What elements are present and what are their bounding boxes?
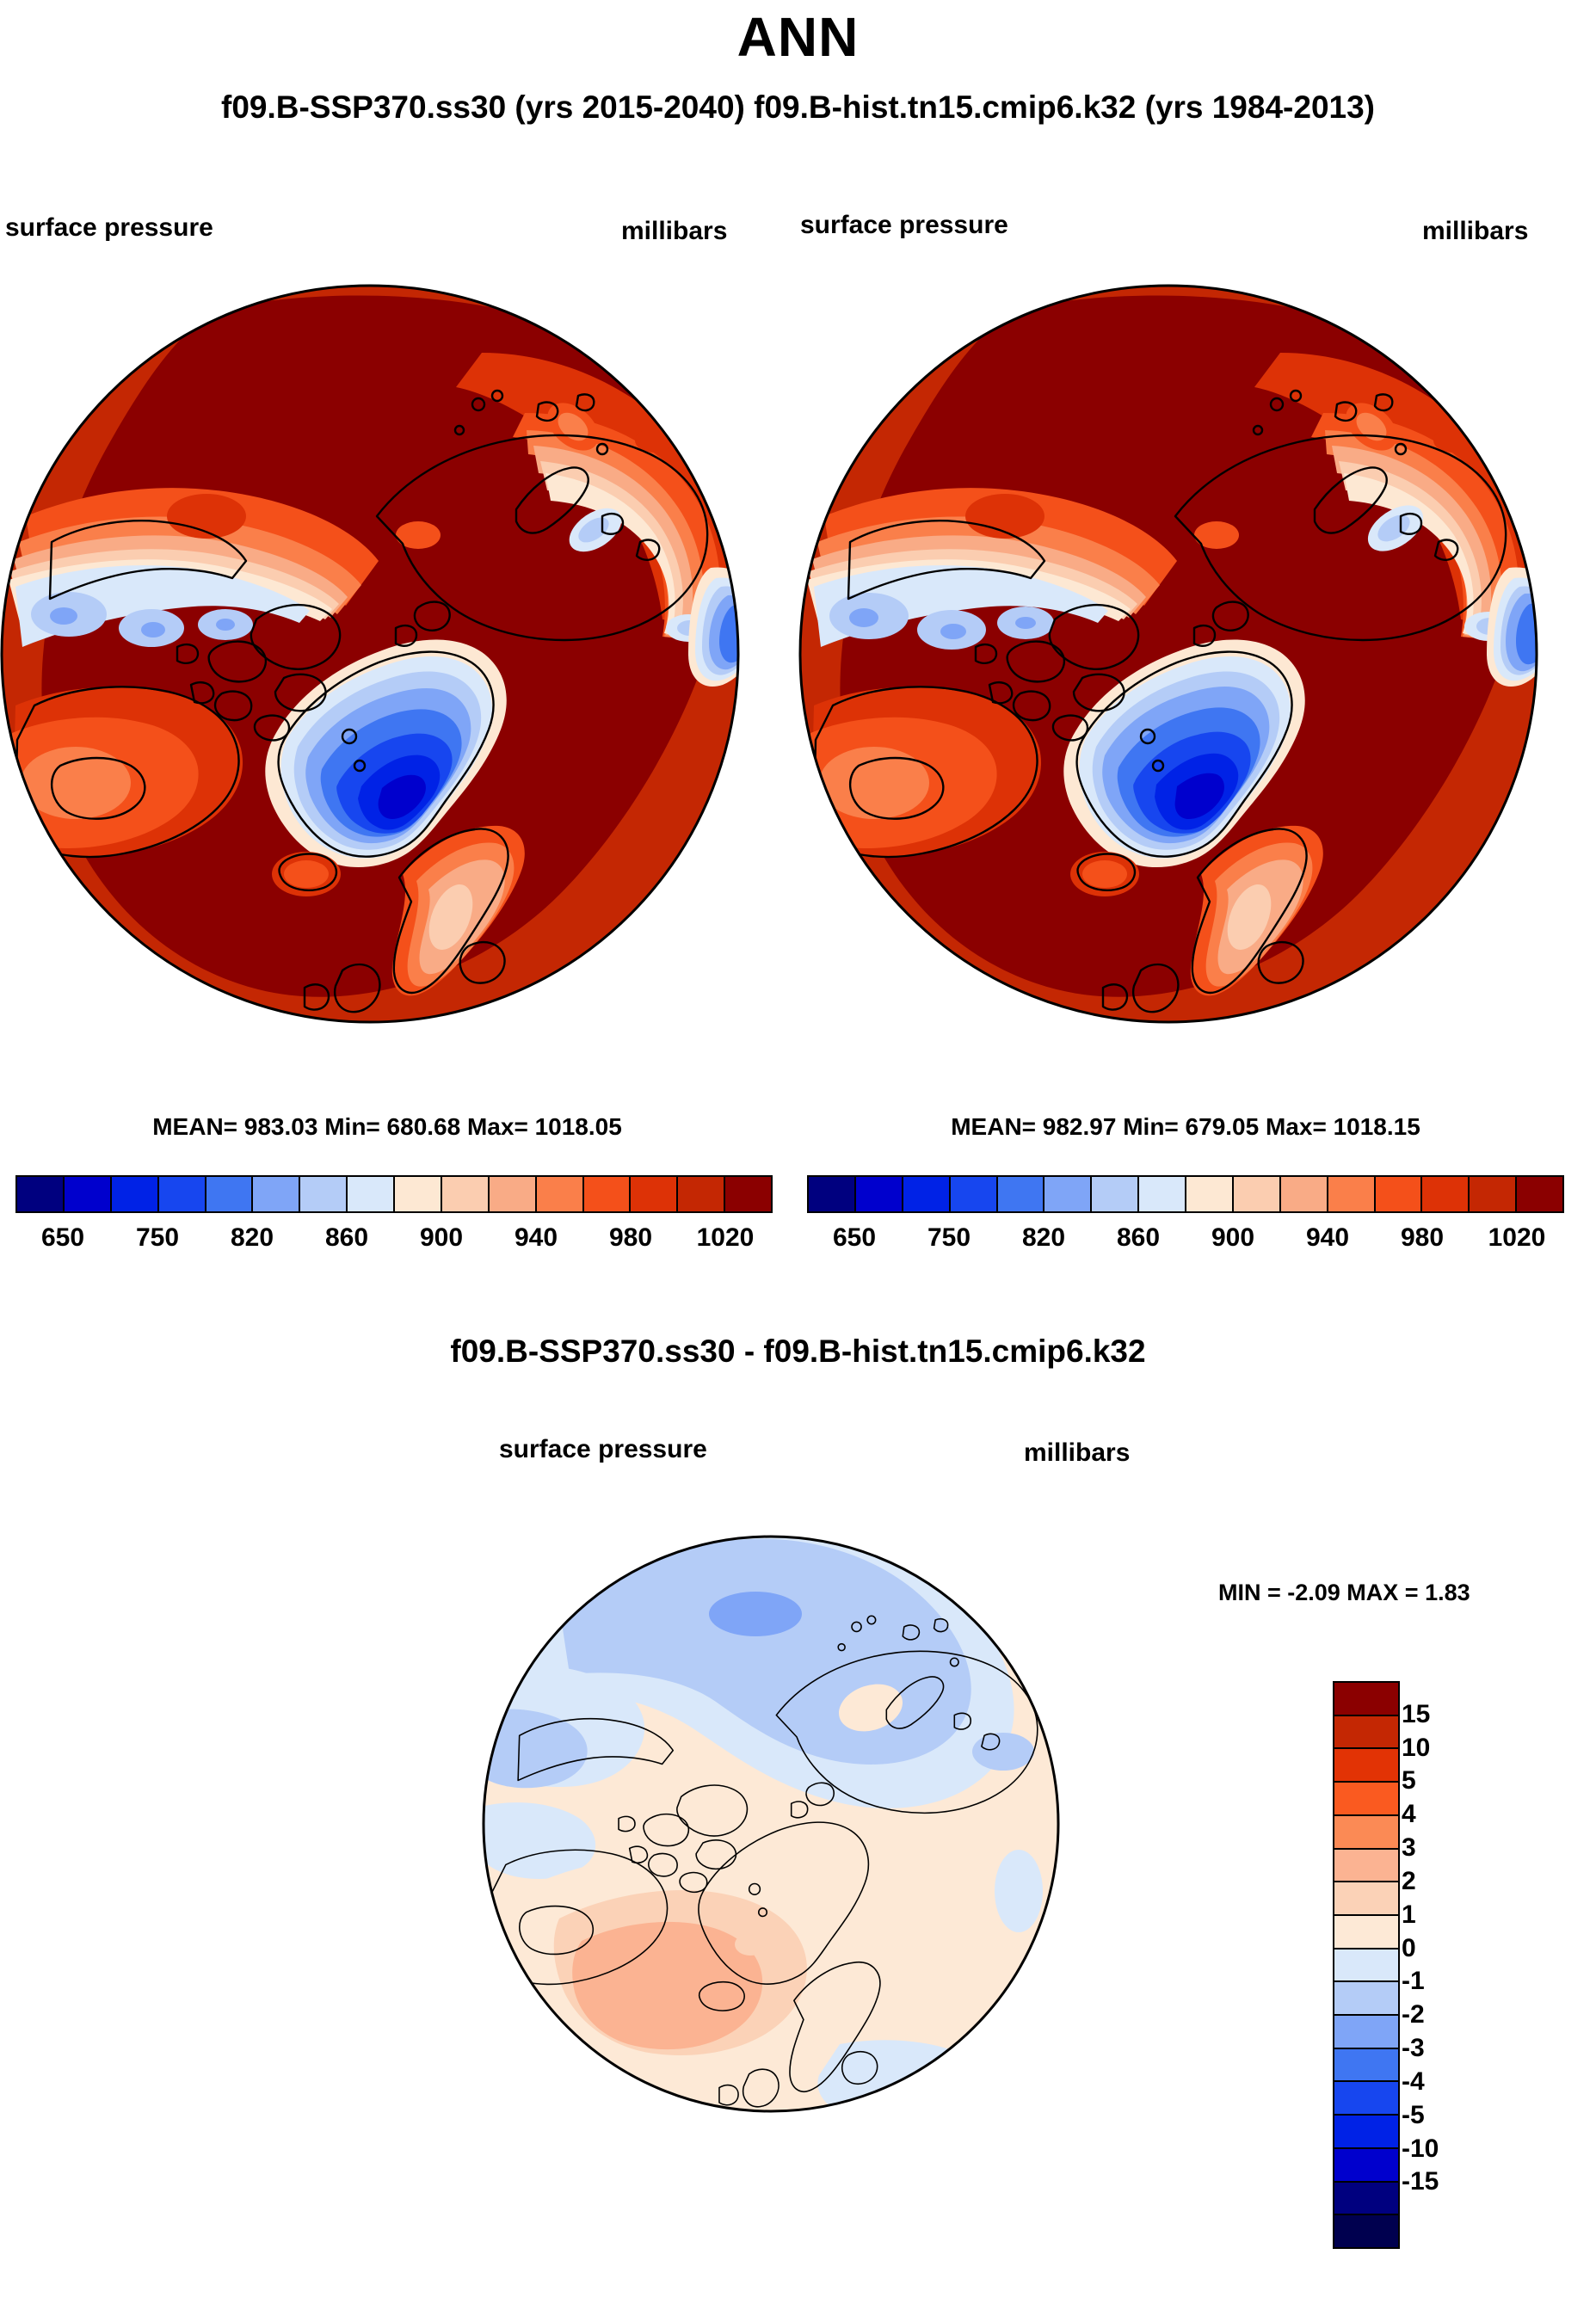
colorbar-tick-label: 15 bbox=[1402, 1700, 1430, 1729]
colorbar-swatch bbox=[110, 1177, 157, 1211]
colorbar-swatch bbox=[949, 1177, 996, 1211]
colorbar-tick-label: -1 bbox=[1402, 1967, 1425, 1996]
diff-variable-label: surface pressure bbox=[499, 1435, 707, 1464]
colorbar-swatch bbox=[854, 1177, 902, 1211]
colorbar-swatch bbox=[1334, 1882, 1398, 1916]
colorbar-tick-label: 2 bbox=[1402, 1867, 1416, 1896]
colorbar-tick-label: -2 bbox=[1402, 2000, 1425, 2030]
colorbar-tick-label: 4 bbox=[1402, 1800, 1416, 1829]
colorbar-swatch bbox=[1420, 1177, 1468, 1211]
colorbar-tick-label: -5 bbox=[1402, 2101, 1425, 2130]
colorbar-tick-label: 900 bbox=[420, 1223, 463, 1253]
right-colorbar-swatches[interactable] bbox=[807, 1175, 1564, 1213]
colorbar-swatch bbox=[1334, 1982, 1398, 2016]
colorbar-swatch bbox=[1334, 2016, 1398, 2049]
left-colorbar[interactable]: 6507508208609009409801020 bbox=[15, 1175, 773, 1261]
colorbar-swatch bbox=[1043, 1177, 1090, 1211]
colorbar-tick-label: 900 bbox=[1211, 1223, 1254, 1253]
right-map-field bbox=[798, 258, 1556, 1084]
colorbar-swatch bbox=[393, 1177, 441, 1211]
colorbar-swatch bbox=[724, 1177, 771, 1211]
colorbar-tick-label: 860 bbox=[1117, 1223, 1160, 1253]
diff-colorbar-ticks: 1510543210-1-2-3-4-5-10-15 bbox=[1402, 1681, 1513, 2249]
colorbar-swatch bbox=[629, 1177, 676, 1211]
diff-minmax: MIN = -2.09 MAX = 1.83 bbox=[1218, 1580, 1470, 1606]
colorbar-tick-label: 650 bbox=[833, 1223, 876, 1253]
right-map-svg bbox=[798, 258, 1556, 1084]
colorbar-swatch bbox=[1334, 2183, 1398, 2216]
colorbar-tick-label: 650 bbox=[41, 1223, 84, 1253]
colorbar-tick-label: -10 bbox=[1402, 2134, 1439, 2164]
colorbar-tick-label: 820 bbox=[231, 1223, 274, 1253]
colorbar-tick-label: 820 bbox=[1022, 1223, 1065, 1253]
left-map-field bbox=[0, 258, 757, 1084]
colorbar-swatch bbox=[1334, 1783, 1398, 1816]
colorbar-tick-label: 0 bbox=[1402, 1934, 1416, 1963]
colorbar-swatch bbox=[996, 1177, 1044, 1211]
colorbar-swatch bbox=[1334, 2116, 1398, 2149]
left-units-label: millibars bbox=[621, 217, 727, 246]
difference-title: f09.B-SSP370.ss30 - f09.B-hist.tn15.cmip… bbox=[0, 1334, 1596, 1370]
diff-colorbar[interactable]: 1510543210-1-2-3-4-5-10-15 bbox=[1333, 1681, 1522, 2249]
colorbar-swatch bbox=[1334, 1950, 1398, 1983]
colorbar-swatch bbox=[205, 1177, 252, 1211]
colorbar-tick-label: 750 bbox=[136, 1223, 179, 1253]
colorbar-tick-label: 940 bbox=[515, 1223, 558, 1253]
diff-map-panel bbox=[482, 1514, 1067, 2142]
colorbar-tick-label: 940 bbox=[1306, 1223, 1349, 1253]
colorbar-tick-label: 980 bbox=[1401, 1223, 1444, 1253]
colorbar-swatch bbox=[1334, 1850, 1398, 1883]
colorbar-swatch bbox=[1334, 1816, 1398, 1850]
colorbar-swatch bbox=[1137, 1177, 1185, 1211]
colorbar-swatch bbox=[1468, 1177, 1515, 1211]
right-colorbar[interactable]: 6507508208609009409801020 bbox=[807, 1175, 1564, 1261]
colorbar-swatch bbox=[63, 1177, 110, 1211]
left-variable-label: surface pressure bbox=[5, 213, 213, 243]
colorbar-swatch bbox=[1334, 1716, 1398, 1750]
colorbar-swatch bbox=[582, 1177, 630, 1211]
colorbar-tick-label: 1020 bbox=[1488, 1223, 1546, 1253]
colorbar-tick-label: 1020 bbox=[697, 1223, 755, 1253]
colorbar-swatch bbox=[488, 1177, 535, 1211]
colorbar-swatch bbox=[1334, 2215, 1398, 2247]
left-colorbar-ticks: 6507508208609009409801020 bbox=[15, 1223, 773, 1261]
colorbar-swatch bbox=[1334, 1916, 1398, 1950]
diff-map-svg bbox=[482, 1514, 1067, 2142]
colorbar-tick-label: -15 bbox=[1402, 2167, 1439, 2196]
colorbar-swatch bbox=[535, 1177, 582, 1211]
colorbar-swatch bbox=[1232, 1177, 1279, 1211]
colorbar-swatch bbox=[1334, 2082, 1398, 2116]
left-colorbar-swatches[interactable] bbox=[15, 1175, 773, 1213]
colorbar-swatch bbox=[809, 1177, 854, 1211]
colorbar-swatch bbox=[1279, 1177, 1327, 1211]
colorbar-tick-label: 1 bbox=[1402, 1900, 1416, 1930]
diff-colorbar-swatches[interactable] bbox=[1333, 1681, 1400, 2249]
colorbar-swatch bbox=[1334, 2049, 1398, 2083]
right-variable-label: surface pressure bbox=[800, 211, 1008, 240]
left-stats: MEAN= 983.03 Min= 680.68 Max= 1018.05 bbox=[0, 1113, 774, 1141]
right-stats: MEAN= 982.97 Min= 679.05 Max= 1018.15 bbox=[798, 1113, 1573, 1141]
diff-map-field bbox=[482, 1514, 1067, 2142]
colorbar-tick-label: 860 bbox=[325, 1223, 368, 1253]
right-units-label: millibars bbox=[1422, 217, 1528, 246]
left-map-panel bbox=[0, 258, 757, 1084]
colorbar-tick-label: 750 bbox=[927, 1223, 971, 1253]
colorbar-swatch bbox=[1515, 1177, 1562, 1211]
left-map-svg bbox=[0, 258, 757, 1084]
colorbar-swatch bbox=[1374, 1177, 1421, 1211]
colorbar-tick-label: -4 bbox=[1402, 2067, 1425, 2097]
colorbar-swatch bbox=[251, 1177, 299, 1211]
colorbar-tick-label: 10 bbox=[1402, 1734, 1430, 1763]
colorbar-swatch bbox=[1090, 1177, 1137, 1211]
colorbar-swatch bbox=[17, 1177, 63, 1211]
colorbar-swatch bbox=[1334, 1749, 1398, 1783]
colorbar-swatch bbox=[1185, 1177, 1232, 1211]
right-colorbar-ticks: 6507508208609009409801020 bbox=[807, 1223, 1564, 1261]
colorbar-swatch bbox=[1334, 2149, 1398, 2183]
diff-units-label: millibars bbox=[1024, 1438, 1130, 1468]
colorbar-swatch bbox=[902, 1177, 949, 1211]
page-title: ANN bbox=[0, 5, 1596, 69]
colorbar-tick-label: 5 bbox=[1402, 1766, 1416, 1796]
colorbar-swatch bbox=[299, 1177, 346, 1211]
colorbar-swatch bbox=[441, 1177, 488, 1211]
colorbar-tick-label: -3 bbox=[1402, 2034, 1425, 2063]
colorbar-swatch bbox=[1327, 1177, 1374, 1211]
colorbar-swatch bbox=[157, 1177, 205, 1211]
colorbar-swatch bbox=[676, 1177, 724, 1211]
colorbar-swatch bbox=[346, 1177, 393, 1211]
colorbar-swatch bbox=[1334, 1683, 1398, 1716]
right-map-panel bbox=[798, 258, 1556, 1084]
colorbar-tick-label: 3 bbox=[1402, 1833, 1416, 1863]
colorbar-tick-label: 980 bbox=[609, 1223, 652, 1253]
page-subtitle: f09.B-SSP370.ss30 (yrs 2015-2040) f09.B-… bbox=[0, 89, 1596, 126]
